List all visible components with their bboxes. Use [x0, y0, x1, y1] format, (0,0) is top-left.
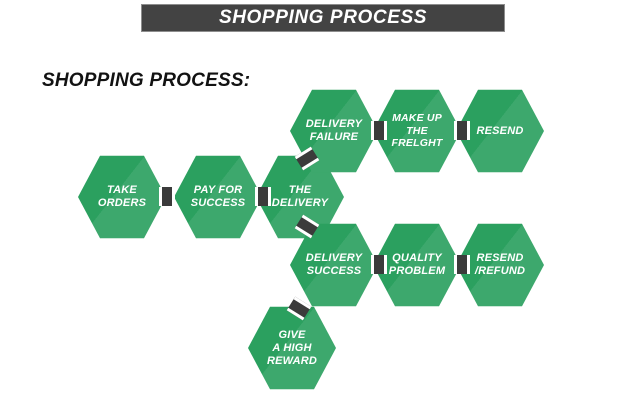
- connector-delivery-success-to-quality-problem: [371, 255, 387, 274]
- hex-label: TAKE ORDERS: [94, 184, 150, 210]
- connector-make-up-the-frelght-to-resend: [454, 121, 470, 140]
- hex-label: RESEND: [472, 125, 527, 138]
- connector-take-orders-to-pay-for-success: [159, 187, 175, 206]
- hex-label: GIVE A HIGH REWARD: [263, 329, 321, 368]
- hex-label: DELIVERY SUCCESS: [302, 252, 366, 278]
- shopping-process-flowchart: TAKE ORDERS PAY FOR SUCCESS THE DELIVERY…: [0, 0, 620, 401]
- hex-label: RESEND /REFUND: [471, 252, 529, 278]
- hex-node-pay-for-success[interactable]: PAY FOR SUCCESS: [174, 154, 262, 240]
- hex-label: PAY FOR SUCCESS: [187, 184, 250, 210]
- hex-label: MAKE UP THE FRELGHT: [388, 112, 447, 150]
- connector-delivery-failure-to-make-up-the-frelght: [371, 121, 387, 140]
- connector-pay-for-success-to-the-delivery: [255, 187, 271, 206]
- hex-label: THE DELIVERY: [268, 184, 332, 210]
- hex-label: DELIVERY FAILURE: [302, 118, 366, 144]
- hex-node-take-orders[interactable]: TAKE ORDERS: [78, 154, 166, 240]
- connector-quality-problem-to-resend-refund: [454, 255, 470, 274]
- hex-node-give-a-high-reward[interactable]: GIVE A HIGH REWARD: [248, 305, 336, 391]
- hex-label: QUALITY PROBLEM: [385, 252, 449, 278]
